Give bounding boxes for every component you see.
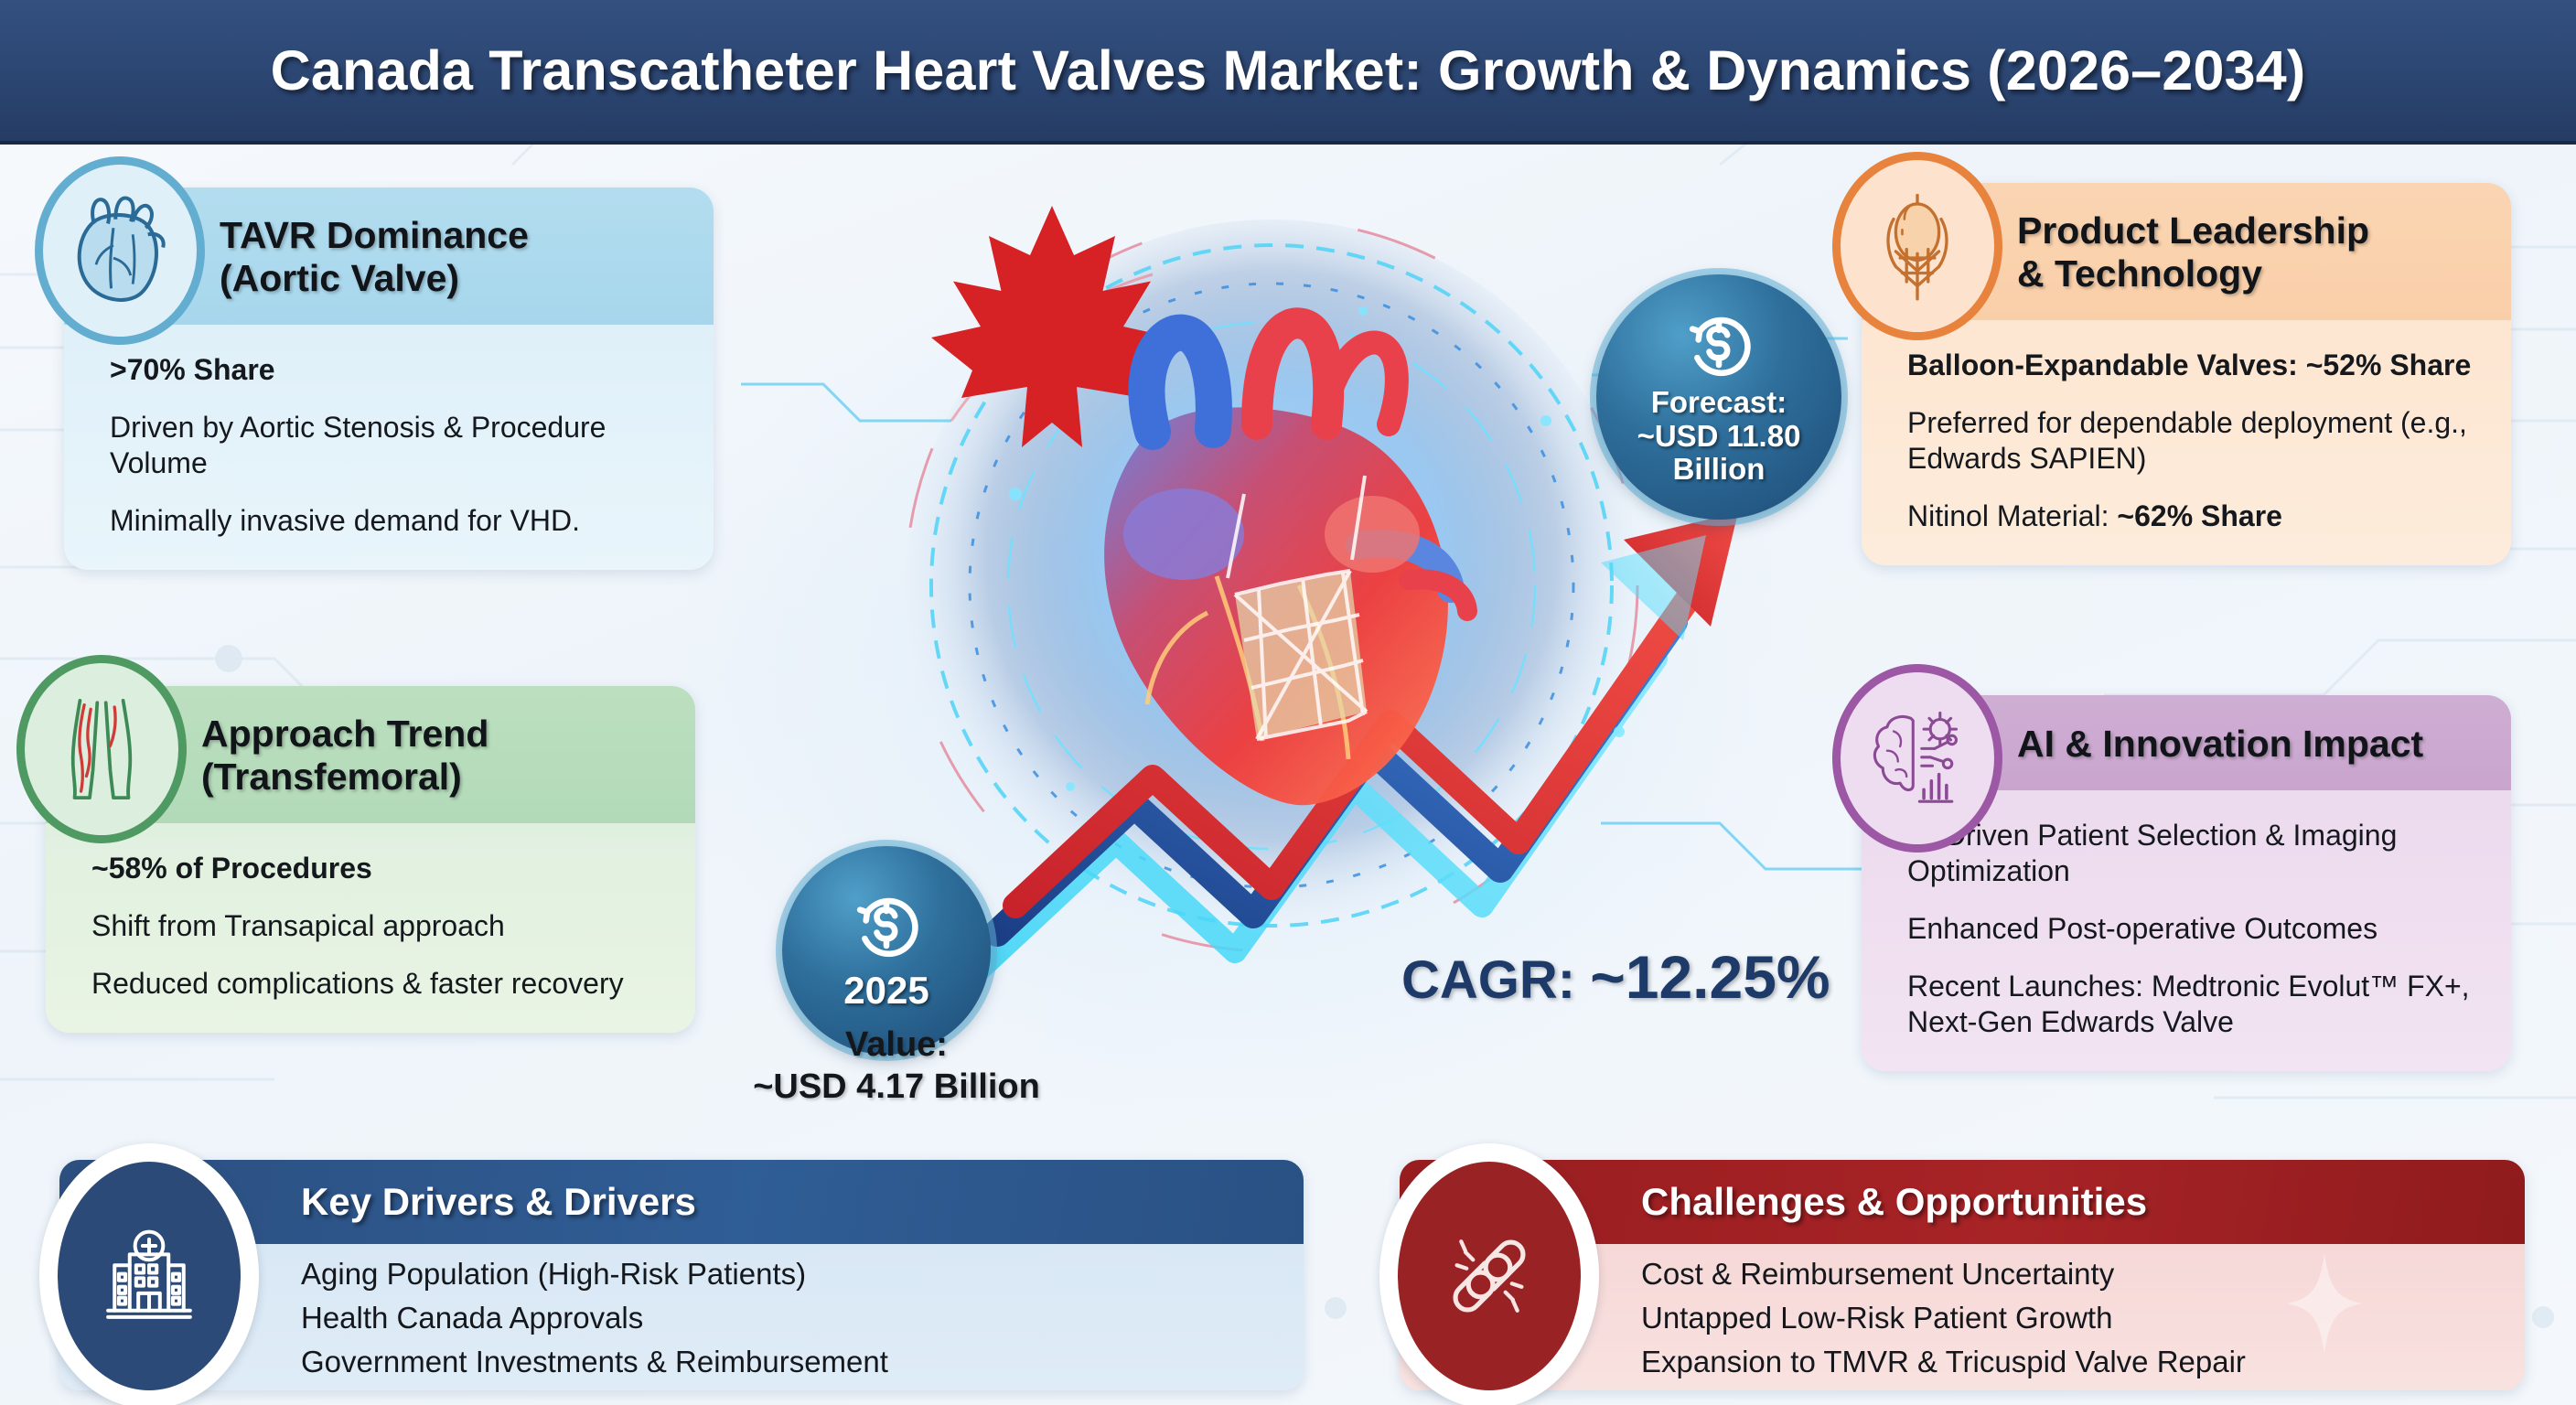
card-title-line1: AI & Innovation Impact bbox=[2017, 723, 2423, 766]
card-product-leadership[interactable]: Product Leadership & Technology Balloon-… bbox=[1862, 183, 2511, 565]
cagr-label: CAGR: bbox=[1401, 950, 1590, 1010]
list-item: Untapped Low-Risk Patient Growth bbox=[1641, 1296, 2506, 1340]
dollar-coin-icon bbox=[1680, 307, 1757, 384]
list-item: Cost & Reimbursement Uncertainty bbox=[1641, 1252, 2506, 1296]
list-item: Expansion to TMVR & Tricuspid Valve Repa… bbox=[1641, 1340, 2506, 1384]
bar-key-drivers[interactable]: Key Drivers & Drivers Aging Population (… bbox=[59, 1160, 1304, 1390]
forecast-value-badge: Forecast: ~USD 11.80 Billion bbox=[1596, 274, 1841, 520]
card-point-1: Preferred for dependable deployment (e.g… bbox=[1907, 405, 2480, 477]
card-stat: ~58% of Procedures bbox=[91, 851, 664, 886]
card-title-line1: Approach Trend bbox=[201, 713, 488, 756]
broken-chain-icon bbox=[1435, 1218, 1543, 1334]
hospital-icon bbox=[95, 1218, 203, 1334]
cagr-value: ~12.25% bbox=[1590, 943, 1830, 1011]
value-caption-line2: ~USD 4.17 Billion bbox=[704, 1067, 1089, 1109]
card-title-line2: (Aortic Valve) bbox=[220, 257, 529, 300]
card-title: Product Leadership & Technology bbox=[2017, 209, 2369, 295]
forecast-label: Forecast: bbox=[1651, 386, 1787, 420]
card-ai-innovation[interactable]: AI & Innovation Impact AI-Driven Patient… bbox=[1862, 695, 2511, 1071]
bar-title: Key Drivers & Drivers bbox=[301, 1180, 696, 1224]
card-point-1: AI-Driven Patient Selection & Imaging Op… bbox=[1907, 818, 2480, 889]
card-approach-trend[interactable]: Approach Trend (Transfemoral) ~58% of Pr… bbox=[46, 686, 695, 1033]
forecast-amount: ~USD 11.80 bbox=[1637, 420, 1801, 454]
bar-title: Challenges & Opportunities bbox=[1641, 1180, 2147, 1224]
card-title-line1: TAVR Dominance bbox=[220, 214, 529, 257]
card-body: ~58% of Procedures Shift from Transapica… bbox=[46, 823, 695, 1033]
card-stat: >70% Share bbox=[110, 352, 682, 388]
card-point-2-label: Nitinol Material: bbox=[1907, 499, 2117, 532]
card-point-2: Reduced complications & faster recovery bbox=[91, 966, 664, 1002]
value-caption-line1: Value: bbox=[704, 1024, 1089, 1067]
list-item: Health Canada Approvals bbox=[301, 1296, 1285, 1340]
card-point-2-value: ~62% Share bbox=[2117, 499, 2282, 532]
card-title-line2: & Technology bbox=[2017, 252, 2369, 295]
card-point-2: Enhanced Post-operative Outcomes bbox=[1907, 911, 2480, 947]
page-title: Canada Transcatheter Heart Valves Market… bbox=[271, 38, 2306, 102]
card-point-2: Minimally invasive demand for VHD. bbox=[110, 503, 682, 539]
card-body: Balloon-Expandable Valves: ~52% Share Pr… bbox=[1862, 320, 2511, 565]
list-item: Aging Population (High-Risk Patients) bbox=[301, 1252, 1285, 1296]
balloon-valve-stent-icon bbox=[1832, 152, 2002, 340]
card-point-1: Driven by Aortic Stenosis & Procedure Vo… bbox=[110, 410, 682, 481]
title-bar: Canada Transcatheter Heart Valves Market… bbox=[0, 0, 2576, 145]
base-year-label: 2025 bbox=[843, 969, 928, 1013]
base-year-value-badge: 2025 bbox=[782, 846, 991, 1055]
card-point-3: Recent Launches: Medtronic Evolut™ FX+, … bbox=[1907, 969, 2480, 1040]
dollar-coin-icon bbox=[848, 888, 925, 965]
card-tavr-dominance[interactable]: TAVR Dominance (Aortic Valve) >70% Share… bbox=[64, 188, 714, 570]
card-point-2: Nitinol Material: ~62% Share bbox=[1907, 499, 2480, 534]
card-point-1: Shift from Transapical approach bbox=[91, 908, 664, 944]
bar-challenges-opportunities[interactable]: Challenges & Opportunities Cost & Reimbu… bbox=[1400, 1160, 2525, 1390]
base-year-value-caption: Value: ~USD 4.17 Billion bbox=[704, 1024, 1089, 1108]
cagr-callout: CAGR: ~12.25% bbox=[1401, 942, 1830, 1012]
hospital-icon-badge bbox=[39, 1143, 259, 1405]
broken-chain-icon-badge bbox=[1379, 1143, 1599, 1405]
anatomical-heart-icon bbox=[35, 156, 205, 345]
forecast-unit: Billion bbox=[1673, 453, 1766, 487]
brain-gear-circuit-icon bbox=[1832, 664, 2002, 853]
card-title: TAVR Dominance (Aortic Valve) bbox=[220, 214, 529, 299]
card-title-line1: Product Leadership bbox=[2017, 209, 2369, 252]
card-title-line2: (Transfemoral) bbox=[201, 756, 488, 799]
card-title: Approach Trend (Transfemoral) bbox=[201, 713, 488, 798]
list-item: Government Investments & Reimbursement bbox=[301, 1340, 1285, 1384]
card-title: AI & Innovation Impact bbox=[2017, 723, 2423, 766]
card-stat: Balloon-Expandable Valves: ~52% Share bbox=[1907, 348, 2480, 383]
legs-vascular-icon bbox=[16, 655, 187, 843]
card-body: >70% Share Driven by Aortic Stenosis & P… bbox=[64, 325, 714, 570]
